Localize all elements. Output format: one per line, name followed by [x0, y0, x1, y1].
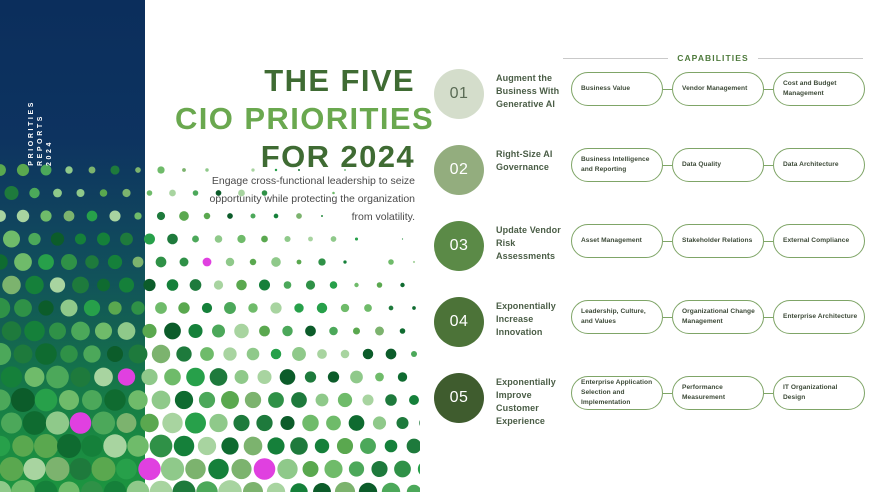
page-title: THE FIVE CIO PRIORITIES FOR 2024 — [175, 62, 415, 175]
capability-connector — [663, 165, 672, 166]
priority-heading: Right-Size AI Governance — [496, 148, 568, 174]
capability-pill[interactable]: Organizational Change Management — [672, 300, 764, 334]
capability-label: Enterprise Application Selection and Imp… — [581, 378, 657, 408]
vertical-label-priorities: PRIORITIES — [28, 100, 35, 166]
capability-pill[interactable]: Asset Management — [571, 224, 663, 258]
header-rule-left — [563, 58, 668, 59]
priority-number-badge: 04 — [434, 297, 484, 347]
capability-label: Business Value — [581, 84, 630, 94]
left-gradient-panel — [0, 0, 145, 492]
priority-row: 05Exponentially Improve Customer Experie… — [434, 372, 875, 448]
capability-label: Enterprise Architecture — [783, 312, 857, 322]
capability-pill[interactable]: Data Quality — [672, 148, 764, 182]
capability-track: Business ValueVendor ManagementCost and … — [571, 72, 875, 106]
capability-pill[interactable]: External Compliance — [773, 224, 865, 258]
title-line-1: THE FIVE — [175, 62, 415, 100]
capability-label: Vendor Management — [682, 84, 747, 94]
capabilities-header: CAPABILITIES — [563, 53, 863, 63]
priority-heading: Augment the Business With Generative AI — [496, 72, 568, 111]
capability-track: Leadership, Culture, and ValuesOrganizat… — [571, 300, 875, 334]
priority-number-badge: 01 — [434, 69, 484, 119]
capability-label: Business Intelligence and Reporting — [581, 155, 657, 175]
priority-row: 02Right-Size AI GovernanceBusiness Intel… — [434, 144, 875, 220]
capability-track: Business Intelligence and ReportingData … — [571, 148, 875, 182]
capability-pill[interactable]: Enterprise Application Selection and Imp… — [571, 376, 663, 410]
priority-row: 01Augment the Business With Generative A… — [434, 68, 875, 144]
capability-pill[interactable]: Vendor Management — [672, 72, 764, 106]
priority-row: 03Update Vendor Risk AssessmentsAsset Ma… — [434, 220, 875, 296]
capability-label: Data Architecture — [783, 160, 839, 170]
capability-connector — [764, 393, 773, 394]
capability-label: Organizational Change Management — [682, 307, 758, 327]
capability-pill[interactable]: Cost and Budget Management — [773, 72, 865, 106]
capability-connector — [764, 89, 773, 90]
capability-label: External Compliance — [783, 236, 849, 246]
capability-pill[interactable]: Business Intelligence and Reporting — [571, 148, 663, 182]
priority-row: 04Exponentially Increase InnovationLeade… — [434, 296, 875, 372]
page-subtitle: Engage cross-functional leadership to se… — [195, 172, 415, 226]
capability-connector — [764, 165, 773, 166]
priority-number-badge: 02 — [434, 145, 484, 195]
capability-label: Performance Measurement — [682, 383, 758, 403]
priority-heading: Exponentially Increase Innovation — [496, 300, 568, 339]
capability-label: IT Organizational Design — [783, 383, 859, 403]
capability-label: Leadership, Culture, and Values — [581, 307, 657, 327]
vertical-label-reports: REPORTS — [37, 114, 44, 166]
capability-connector — [764, 241, 773, 242]
capability-pill[interactable]: Leadership, Culture, and Values — [571, 300, 663, 334]
priority-rows: 01Augment the Business With Generative A… — [434, 68, 875, 448]
capability-pill[interactable]: Performance Measurement — [672, 376, 764, 410]
header-rule-right — [758, 58, 863, 59]
capability-pill[interactable]: Enterprise Architecture — [773, 300, 865, 334]
capabilities-header-label: CAPABILITIES — [677, 53, 749, 63]
priority-number-badge: 03 — [434, 221, 484, 271]
capability-connector — [663, 393, 672, 394]
title-line-3: FOR 2024 — [175, 138, 415, 176]
capability-label: Data Quality — [682, 160, 721, 170]
priority-heading: Update Vendor Risk Assessments — [496, 224, 568, 263]
capability-connector — [663, 241, 672, 242]
capability-connector — [764, 317, 773, 318]
capability-track: Asset ManagementStakeholder RelationsExt… — [571, 224, 875, 258]
title-line-2: CIO PRIORITIES — [175, 100, 415, 138]
capability-connector — [663, 317, 672, 318]
capability-track: Enterprise Application Selection and Imp… — [571, 376, 875, 410]
capability-label: Asset Management — [581, 236, 642, 246]
capability-pill[interactable]: IT Organizational Design — [773, 376, 865, 410]
capability-label: Cost and Budget Management — [783, 79, 859, 99]
capability-connector — [663, 89, 672, 90]
capability-pill[interactable]: Business Value — [571, 72, 663, 106]
capability-label: Stakeholder Relations — [682, 236, 752, 246]
priority-heading: Exponentially Improve Customer Experienc… — [496, 376, 568, 428]
capability-pill[interactable]: Stakeholder Relations — [672, 224, 764, 258]
capability-pill[interactable]: Data Architecture — [773, 148, 865, 182]
priority-number-badge: 05 — [434, 373, 484, 423]
vertical-label-year: 2024 — [46, 140, 53, 166]
vertical-brand-label: PRIORITIES REPORTS 2024 — [28, 56, 53, 166]
slide-canvas: PRIORITIES REPORTS 2024 THE FIVE CIO PRI… — [0, 0, 875, 492]
